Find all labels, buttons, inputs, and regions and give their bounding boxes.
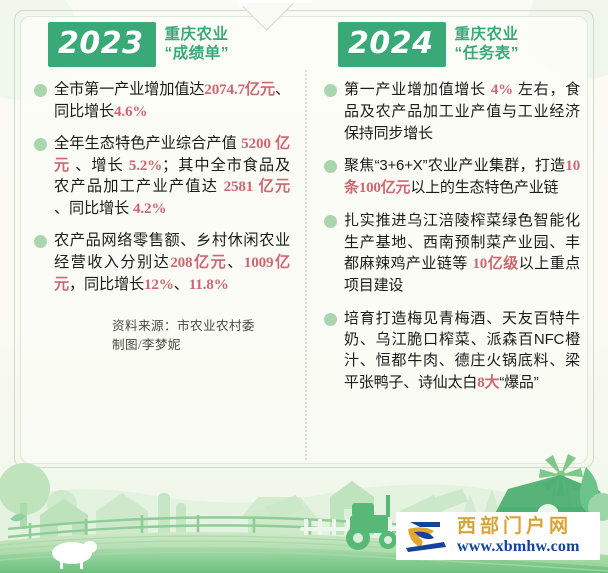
plain-text: 、同比增长 xyxy=(54,200,133,217)
banner-subtitle-line1: 重庆农业 xyxy=(165,26,230,45)
source-line-1: 资料来源：市农业农村委 xyxy=(112,317,290,336)
watermark-logo-icon xyxy=(400,516,450,556)
watermark: 西部门户网 www.xbmhw.com xyxy=(396,512,600,560)
bullet-item: 农产品网络零售额、乡村休闲农业经营收入分别达208亿元、1009亿元，同比增长1… xyxy=(34,230,290,295)
bullet-item: 全市第一产业增加值达2074.7亿元、同比增长4.6% xyxy=(34,79,290,122)
highlight-number: 5200 xyxy=(241,135,271,152)
highlight-number: 11.8% xyxy=(189,276,229,293)
column-2023: 2023 重庆农业 “成绩单” 全市第一产业增加值达2074.7亿元、同比增长4… xyxy=(28,14,306,466)
bullet-list-2024: 第一产业增加值增长 4% 左右，食品及农产品加工业产值与工业经济保持同步增长聚焦… xyxy=(324,79,580,394)
highlight-unit: 亿级 xyxy=(487,255,519,272)
highlight-number: 208 xyxy=(170,254,192,271)
frame-notch-mask xyxy=(238,0,312,3)
highlight-unit: 亿元 xyxy=(381,179,411,196)
highlight-number: 2074.7 xyxy=(204,81,245,98)
plain-text: 聚焦“3+6+X”农业产业集群，打造 xyxy=(344,157,565,174)
bullet-text: 全市第一产业增加值达2074.7亿元、同比增长4.6% xyxy=(54,79,290,122)
highlight-number: 5.2% xyxy=(129,157,162,174)
watermark-site-name: 西部门户网 xyxy=(457,517,580,536)
plain-text: 、增长 xyxy=(75,157,129,174)
bullet-dot-icon xyxy=(324,84,337,97)
highlight-number: 10 xyxy=(565,158,580,174)
highlight-unit: 亿元 xyxy=(192,254,227,271)
bullet-item: 培育打造梅见青梅酒、天友百特牛奶、乌江脆口榨菜、派森百NFC橙汁、恒都牛肉、德庄… xyxy=(324,308,580,394)
highlight-number: 10 xyxy=(473,256,488,272)
highlight-number: 1009 xyxy=(244,254,274,271)
columns-container: 2023 重庆农业 “成绩单” 全市第一产业增加值达2074.7亿元、同比增长4… xyxy=(28,14,584,466)
highlight-number: 4.6% xyxy=(114,103,147,120)
bullet-dot-icon xyxy=(324,313,337,326)
bullet-dot-icon xyxy=(34,84,47,97)
plain-text: 、 xyxy=(174,276,189,293)
highlight-number: 4.2% xyxy=(133,200,166,217)
watermark-url: www.xbmhw.com xyxy=(457,539,580,555)
bullet-text: 培育打造梅见青梅酒、天友百特牛奶、乌江脆口榨菜、派森百NFC橙汁、恒都牛肉、德庄… xyxy=(344,308,580,394)
bullet-text: 农产品网络零售额、乡村休闲农业经营收入分别达208亿元、1009亿元，同比增长1… xyxy=(54,230,290,295)
plain-text: 全年生态特色产业综合产值 xyxy=(54,135,241,152)
banner-subtitle-2023: 重庆农业 “成绩单” xyxy=(165,26,230,64)
banner-subtitle-2024: 重庆农业 “任务表” xyxy=(455,26,520,64)
highlight-number: 12% xyxy=(144,276,174,293)
bullet-dot-icon xyxy=(324,160,337,173)
plain-text: 第一产业增加值增长 xyxy=(344,81,491,98)
bullet-list-2023: 全市第一产业增加值达2074.7亿元、同比增长4.6%全年生态特色产业综合产值 … xyxy=(34,79,290,295)
bullet-item: 第一产业增加值增长 4% 左右，食品及农产品加工业产值与工业经济保持同步增长 xyxy=(324,79,580,144)
column-2024: 2024 重庆农业 “任务表” 第一产业增加值增长 4% 左右，食品及农产品加工… xyxy=(306,14,584,466)
highlight-number: 8 xyxy=(477,375,484,391)
plain-text: “爆品” xyxy=(499,374,538,391)
plain-text: 、 xyxy=(227,254,244,271)
bullet-item: 全年生态特色产业综合产值 5200 亿元 、增长 5.2%；其中全市食品及农产品… xyxy=(34,133,290,219)
bullet-item: 聚焦“3+6+X”农业产业集群，打造10条100亿元以上的生态特色产业链 xyxy=(324,155,580,200)
bullet-dot-icon xyxy=(34,138,47,151)
highlight-unit: 亿元 xyxy=(245,81,275,98)
bullet-item: 扎实推进乌江涪陵榨菜绿色智能化生产基地、西南预制菜产业园、丰都麻辣鸡产业链等 1… xyxy=(324,210,580,296)
bullet-text: 聚焦“3+6+X”农业产业集群，打造10条100亿元以上的生态特色产业链 xyxy=(344,155,580,200)
highlight-unit: 亿元 xyxy=(253,178,290,195)
banner-subtitle-line2: “成绩单” xyxy=(165,45,230,64)
bullet-dot-icon xyxy=(324,215,337,228)
highlight-number: 100 xyxy=(359,180,381,196)
source-attribution: 资料来源：市农业农村委 制图/李梦妮 xyxy=(112,317,290,355)
highlight-unit: 大 xyxy=(485,374,500,391)
bullet-text: 第一产业增加值增长 4% 左右，食品及农产品加工业产值与工业经济保持同步增长 xyxy=(344,79,580,144)
source-line-2: 制图/李梦妮 xyxy=(112,336,290,355)
banner-subtitle-line1: 重庆农业 xyxy=(455,26,520,45)
banner-subtitle-line2: “任务表” xyxy=(455,45,520,64)
banner-2024: 2024 重庆农业 “任务表” xyxy=(338,22,580,67)
watermark-text: 西部门户网 www.xbmhw.com xyxy=(457,517,580,555)
year-badge-2024: 2024 xyxy=(338,22,446,67)
banner-2023: 2023 重庆农业 “成绩单” xyxy=(48,22,290,67)
plain-text: 培育打造梅见青梅酒、天友百特牛奶、乌江脆口榨菜、派森百NFC橙汁、恒都牛肉、德庄… xyxy=(344,310,580,391)
highlight-number: 2581 xyxy=(224,178,254,195)
infographic-poster: 2023 重庆农业 “成绩单” 全市第一产业增加值达2074.7亿元、同比增长4… xyxy=(0,0,608,573)
plain-text: 全市第一产业增加值达 xyxy=(54,81,204,98)
plain-text: 以上的生态特色产业链 xyxy=(410,179,558,196)
bullet-dot-icon xyxy=(34,235,47,248)
bullet-text: 扎实推进乌江涪陵榨菜绿色智能化生产基地、西南预制菜产业园、丰都麻辣鸡产业链等 1… xyxy=(344,210,580,296)
plain-text: ，同比增长 xyxy=(69,276,144,293)
highlight-number: 4% xyxy=(491,82,513,98)
bullet-text: 全年生态特色产业综合产值 5200 亿元 、增长 5.2%；其中全市食品及农产品… xyxy=(54,133,290,219)
highlight-unit: 条 xyxy=(344,179,359,196)
year-badge-2023: 2023 xyxy=(48,22,156,67)
